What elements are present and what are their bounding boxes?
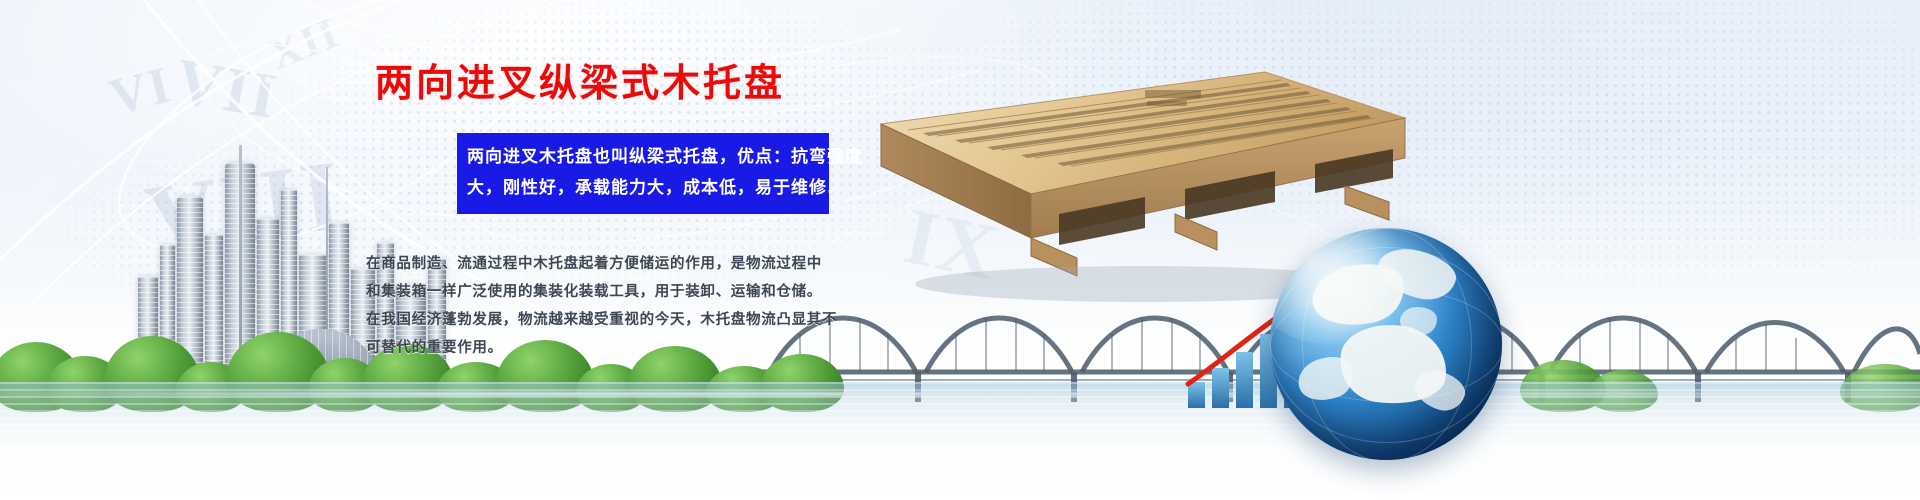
water-reflection [0,382,1920,500]
numeral-vi: VI [104,55,178,127]
body-line-3: 在我国经济蓬勃发展，物流越来越受重视的今天，木托盘物流凸显其不 [366,306,846,334]
highlight-line-2: 大，刚性好，承载能力大，成本低，易于维修. [467,173,819,204]
page-title: 两向进叉纵梁式木托盘 [375,52,785,107]
body-paragraph: 在商品制造、流通过程中木托盘起着方便储运的作用，是物流过程中 和集装箱一样广泛使… [366,250,846,362]
body-line-2: 和集装箱一样广泛使用的集装化装载工具，用于装卸、运输和仓储。 [366,278,846,306]
body-line-4: 可替代的重要作用。 [366,334,846,362]
numeral-vii: VII [170,44,283,135]
promo-banner: VIII VII VI IX XII [0,0,1920,500]
highlight-line-1: 两向进叉木托盘也叫纵梁式托盘，优点：抗弯强度 [467,142,819,173]
body-line-1: 在商品制造、流通过程中木托盘起着方便储运的作用，是物流过程中 [366,250,846,278]
earth-globe [1270,228,1502,460]
highlight-callout-box: 两向进叉木托盘也叫纵梁式托盘，优点：抗弯强度 大，刚性好，承载能力大，成本低，易… [457,133,829,214]
